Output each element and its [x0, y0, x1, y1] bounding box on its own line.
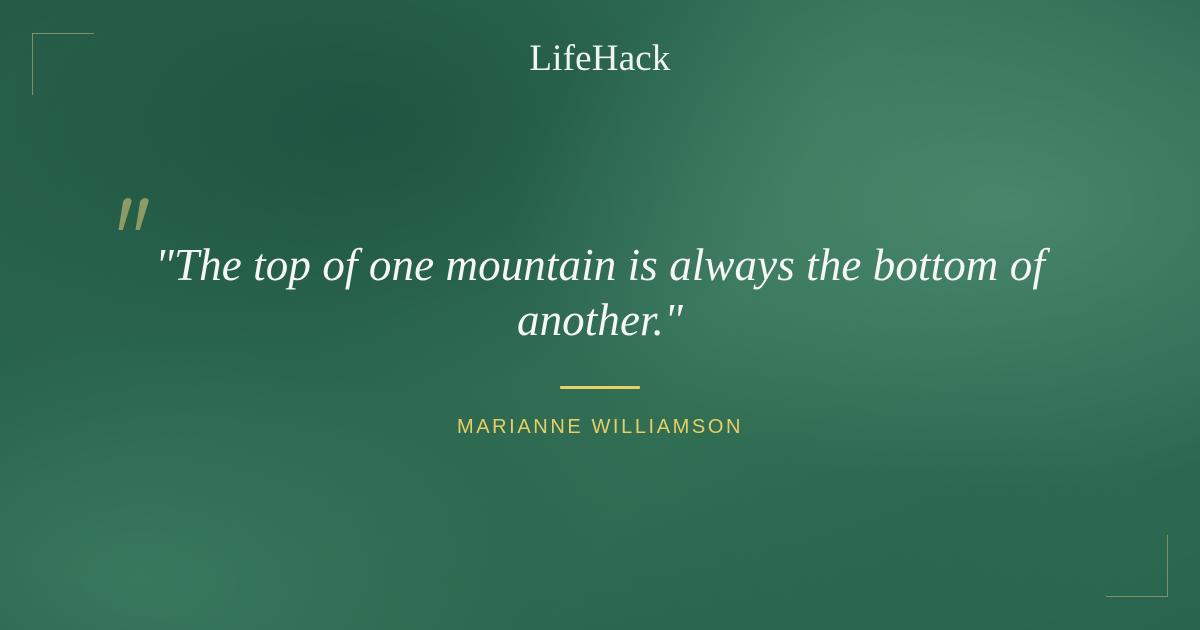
quote-text: "The top of one mountain is always the b… — [0, 238, 1200, 348]
gold-divider — [560, 386, 640, 389]
brand-logo: LifeHack — [0, 40, 1200, 79]
double-quote-icon — [118, 190, 164, 236]
quote-block: "The top of one mountain is always the b… — [0, 190, 1200, 439]
corner-bracket-bottom-right-icon — [1106, 535, 1168, 597]
quote-author: MARIANNE WILLIAMSON — [0, 416, 1200, 439]
quote-card: LifeHack "The top of one mountain is alw… — [0, 0, 1200, 630]
